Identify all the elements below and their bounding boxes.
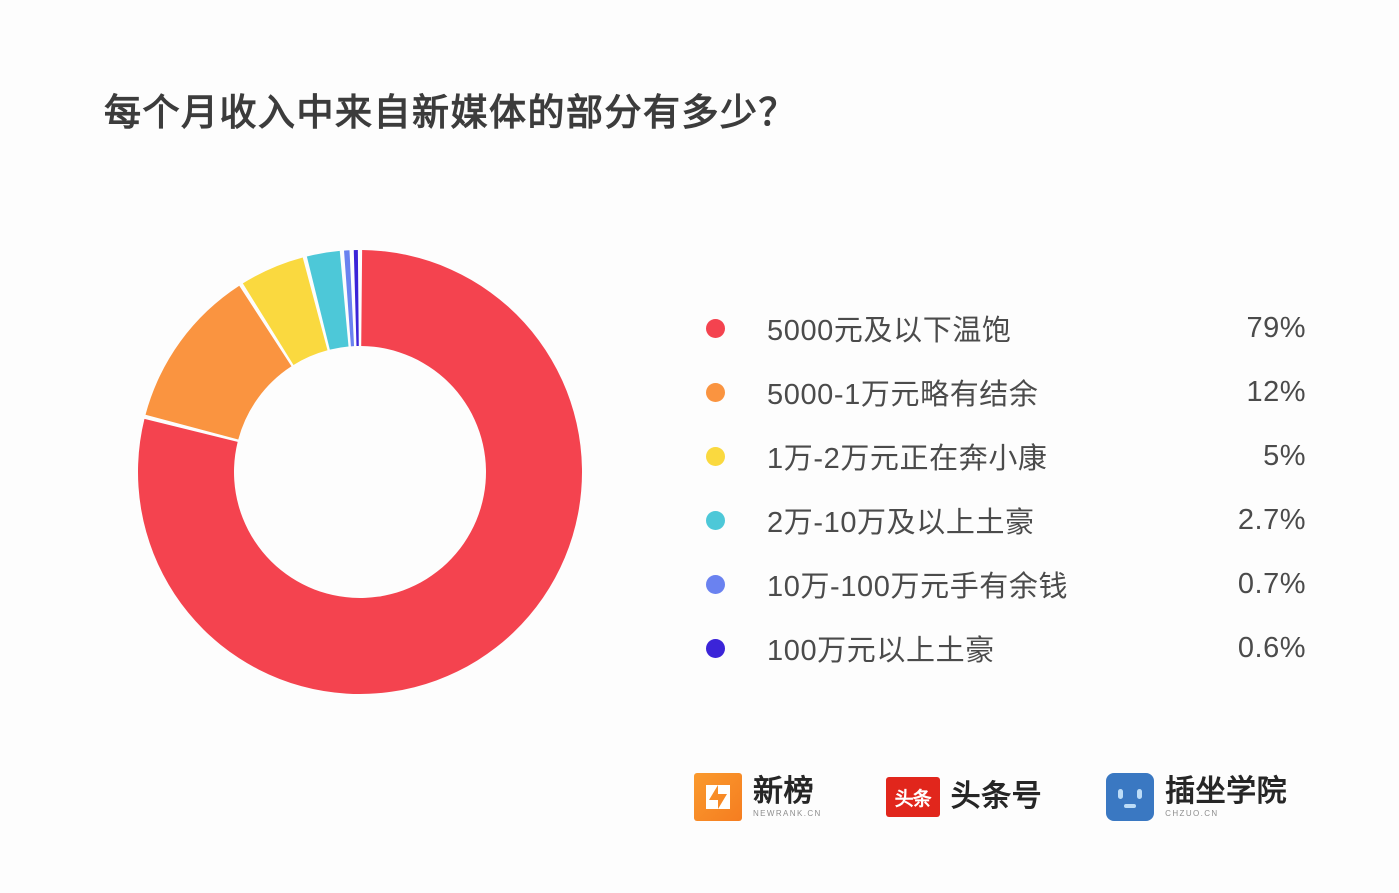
logo-chazuo: 插坐学院 CHZUO.CN: [1106, 773, 1287, 821]
footer-logo-row: 新榜 NEWRANK.CN 头条 头条号: [694, 773, 1287, 821]
legend-item-value: 79%: [1181, 312, 1306, 345]
legend-color-dot: [706, 511, 725, 530]
legend-item-label: 100万元以上土豪: [767, 627, 1181, 669]
page-title: 每个月收入中来自新媒体的部分有多少？: [104, 82, 797, 136]
legend-color-dot: [706, 319, 725, 338]
toutiao-badge-icon: 头条: [886, 777, 940, 817]
newrank-z-mark-icon: [694, 773, 742, 821]
legend-item-label: 1万-2万元正在奔小康: [767, 435, 1181, 477]
logo-name: 插坐学院: [1165, 776, 1287, 807]
newrank-wordmark: 新榜 NEWRANK.CN: [753, 776, 822, 818]
toutiao-badge-text: 头条: [886, 777, 940, 817]
legend-item-label: 5000-1万元略有结余: [767, 371, 1181, 413]
chazuo-wordmark: 插坐学院 CHZUO.CN: [1165, 776, 1287, 818]
chazuo-face-mark-icon: [1106, 773, 1154, 821]
legend-item-value: 0.6%: [1181, 632, 1306, 665]
legend-item-label: 10万-100万元手有余钱: [767, 563, 1181, 605]
legend-item[interactable]: 100万元以上土豪 0.6%: [706, 616, 1306, 680]
legend-item[interactable]: 1万-2万元正在奔小康 5%: [706, 424, 1306, 488]
logo-toutiaohao: 头条 头条号: [886, 777, 1043, 817]
chazuo-eye-right-icon: [1137, 789, 1142, 799]
donut-chart: [130, 242, 590, 702]
slide-canvas: 每个月收入中来自新媒体的部分有多少？ 5000元及以下温饱 79% 5000-1…: [0, 0, 1399, 893]
logo-name: 头条号: [951, 781, 1043, 812]
legend-item-label: 5000元及以下温饱: [767, 307, 1181, 349]
newrank-glyph-icon: [704, 782, 732, 812]
toutiaohao-wordmark: 头条号: [951, 781, 1043, 812]
legend-color-dot: [706, 447, 725, 466]
logo-newrank: 新榜 NEWRANK.CN: [694, 773, 822, 821]
donut-slice[interactable]: [354, 250, 359, 346]
chazuo-mouth-icon: [1124, 804, 1136, 808]
legend-color-dot: [706, 639, 725, 658]
donut-slice-group: [138, 250, 582, 694]
legend-color-dot: [706, 383, 725, 402]
legend-item[interactable]: 2万-10万及以上土豪 2.7%: [706, 488, 1306, 552]
logo-tagline: NEWRANK.CN: [753, 809, 822, 818]
legend-item[interactable]: 5000-1万元略有结余 12%: [706, 360, 1306, 424]
legend-item-value: 5%: [1181, 440, 1306, 473]
chart-legend: 5000元及以下温饱 79% 5000-1万元略有结余 12% 1万-2万元正在…: [706, 296, 1306, 680]
legend-item-label: 2万-10万及以上土豪: [767, 499, 1181, 541]
legend-item-value: 2.7%: [1181, 504, 1306, 537]
legend-item[interactable]: 10万-100万元手有余钱 0.7%: [706, 552, 1306, 616]
logo-tagline: CHZUO.CN: [1165, 809, 1287, 818]
logo-name: 新榜: [753, 776, 822, 807]
legend-item[interactable]: 5000元及以下温饱 79%: [706, 296, 1306, 360]
chazuo-eye-left-icon: [1118, 789, 1123, 799]
legend-color-dot: [706, 575, 725, 594]
legend-item-value: 0.7%: [1181, 568, 1306, 601]
legend-item-value: 12%: [1181, 376, 1306, 409]
donut-chart-svg: [130, 242, 590, 702]
